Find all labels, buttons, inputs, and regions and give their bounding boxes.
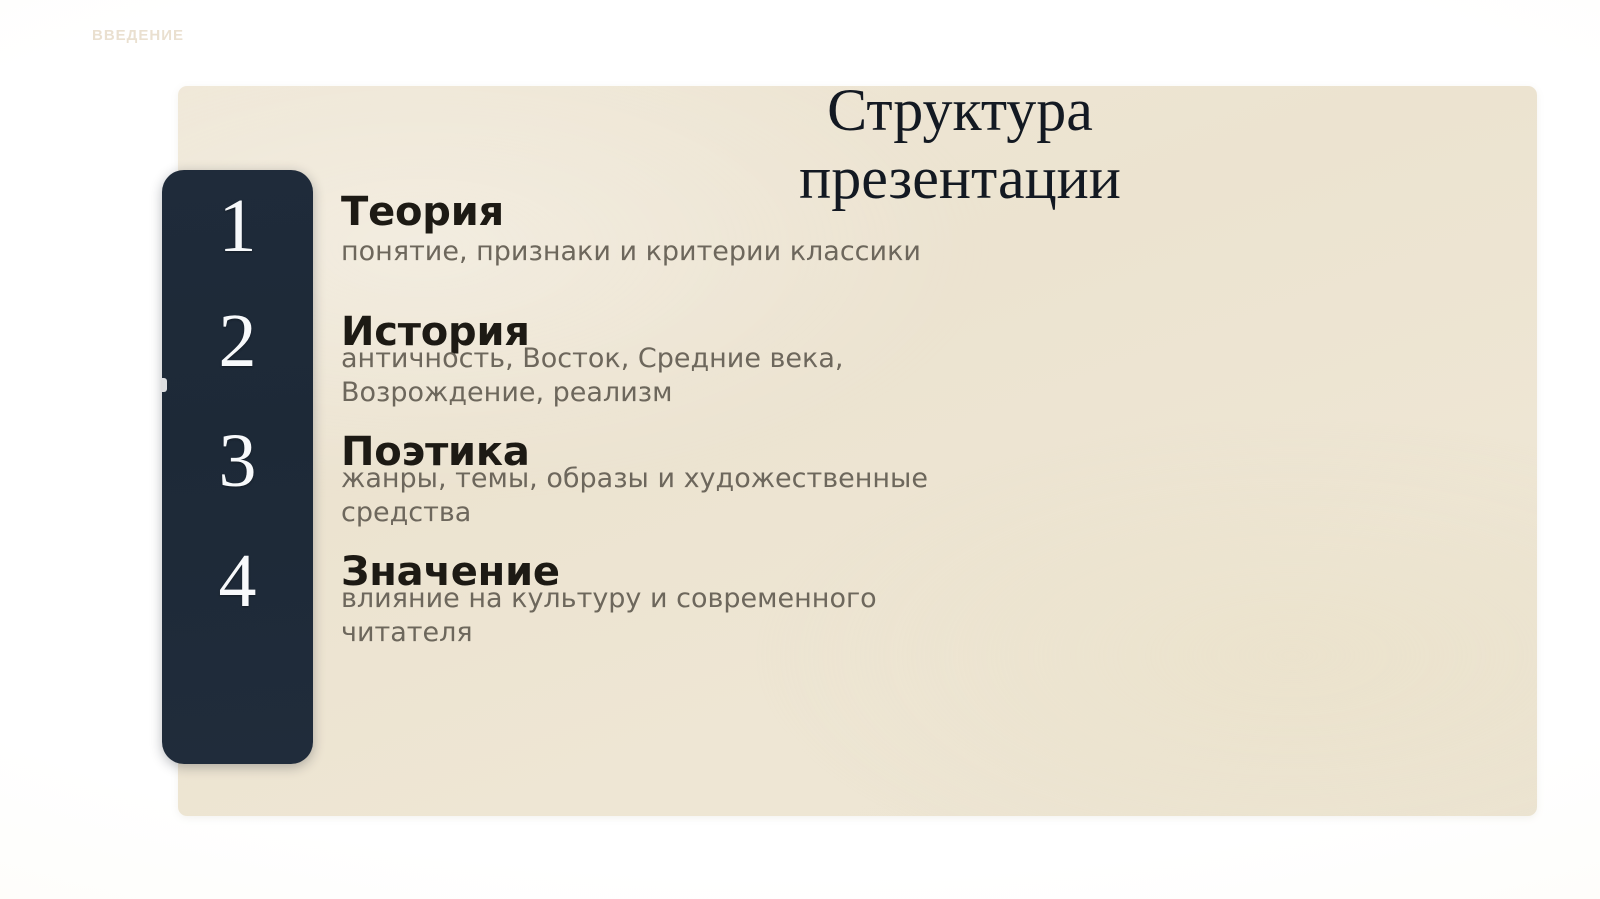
slide-root: ВВЕДЕНИЕ Структура презентации 1 2 3 4 Т… [0,0,1600,899]
rail-number-1: 1 [162,188,313,264]
list-item: Поэтика жанры, темы, образы и художестве… [341,430,1341,530]
rail-number-3: 3 [162,423,313,499]
item-subtitle-theory: понятие, признаки и критерии классики [341,235,941,269]
list-item: Теория понятие, признаки и критерии клас… [341,190,1341,269]
rail-number-2: 2 [162,303,313,379]
item-subtitle-history: античность, Восток, Средние века, Возрож… [341,342,941,410]
eyebrow-label: ВВЕДЕНИЕ [92,27,184,44]
item-heading-theory: Теория [341,190,1341,234]
number-rail: 1 2 3 4 [162,170,313,764]
item-subtitle-significance: влияние на культуру и современного читат… [341,582,941,650]
rail-number-4: 4 [162,543,313,619]
list-item: Значение влияние на культуру и современн… [341,550,1341,650]
list-item: История античность, Восток, Средние века… [341,310,1341,410]
item-subtitle-poetics: жанры, темы, образы и художественные сре… [341,462,941,530]
